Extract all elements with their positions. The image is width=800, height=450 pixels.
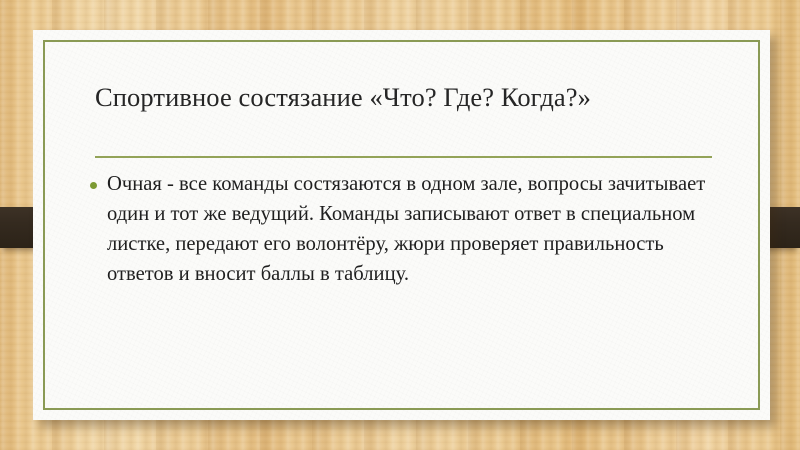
bullet-text: Очная - все команды состязаются в одном …	[107, 170, 722, 290]
slide-title: Спортивное состязание «Что? Где? Когда?»	[95, 82, 715, 113]
bullet-dot-icon	[90, 182, 97, 189]
presentation-slide: Спортивное состязание «Что? Где? Когда?»…	[0, 0, 800, 450]
title-divider-rule	[95, 156, 712, 158]
slide-card: Спортивное состязание «Что? Где? Когда?»…	[33, 30, 770, 420]
bullet-list-item: Очная - все команды состязаются в одном …	[90, 170, 722, 290]
slide-content: Спортивное состязание «Что? Где? Когда?»…	[33, 30, 770, 420]
